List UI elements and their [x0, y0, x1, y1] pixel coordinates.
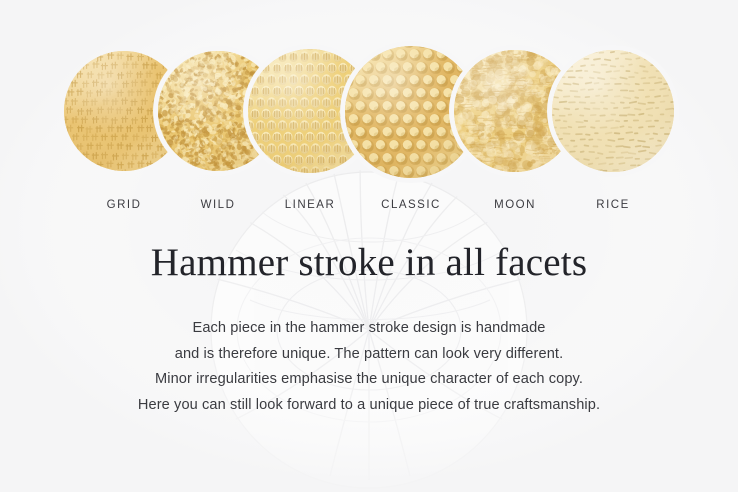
- texture-label-wild: WILD: [201, 199, 236, 211]
- page-title: Hammer stroke in all facets: [0, 242, 738, 285]
- body-copy-line: and is therefore unique. The pattern can…: [0, 342, 738, 368]
- texture-label-grid: GRID: [107, 199, 142, 211]
- texture-swatch-row: [0, 30, 738, 195]
- body-copy-line: Here you can still look forward to a uni…: [0, 393, 738, 419]
- texture-label-row: GRIDWILDLINEARCLASSICMOONRICE: [0, 199, 738, 219]
- texture-label-rice: RICE: [596, 199, 629, 211]
- body-copy-line: Each piece in the hammer stroke design i…: [0, 316, 738, 342]
- texture-swatch-rice[interactable]: [552, 50, 674, 172]
- texture-label-classic: CLASSIC: [381, 199, 441, 211]
- body-copy-line: Minor irregularities emphasise the uniqu…: [0, 367, 738, 393]
- poster-stage: GRIDWILDLINEARCLASSICMOONRICE Hammer str…: [0, 0, 738, 492]
- texture-label-linear: LINEAR: [285, 199, 336, 211]
- body-copy: Each piece in the hammer stroke design i…: [0, 316, 738, 418]
- texture-label-moon: MOON: [494, 199, 536, 211]
